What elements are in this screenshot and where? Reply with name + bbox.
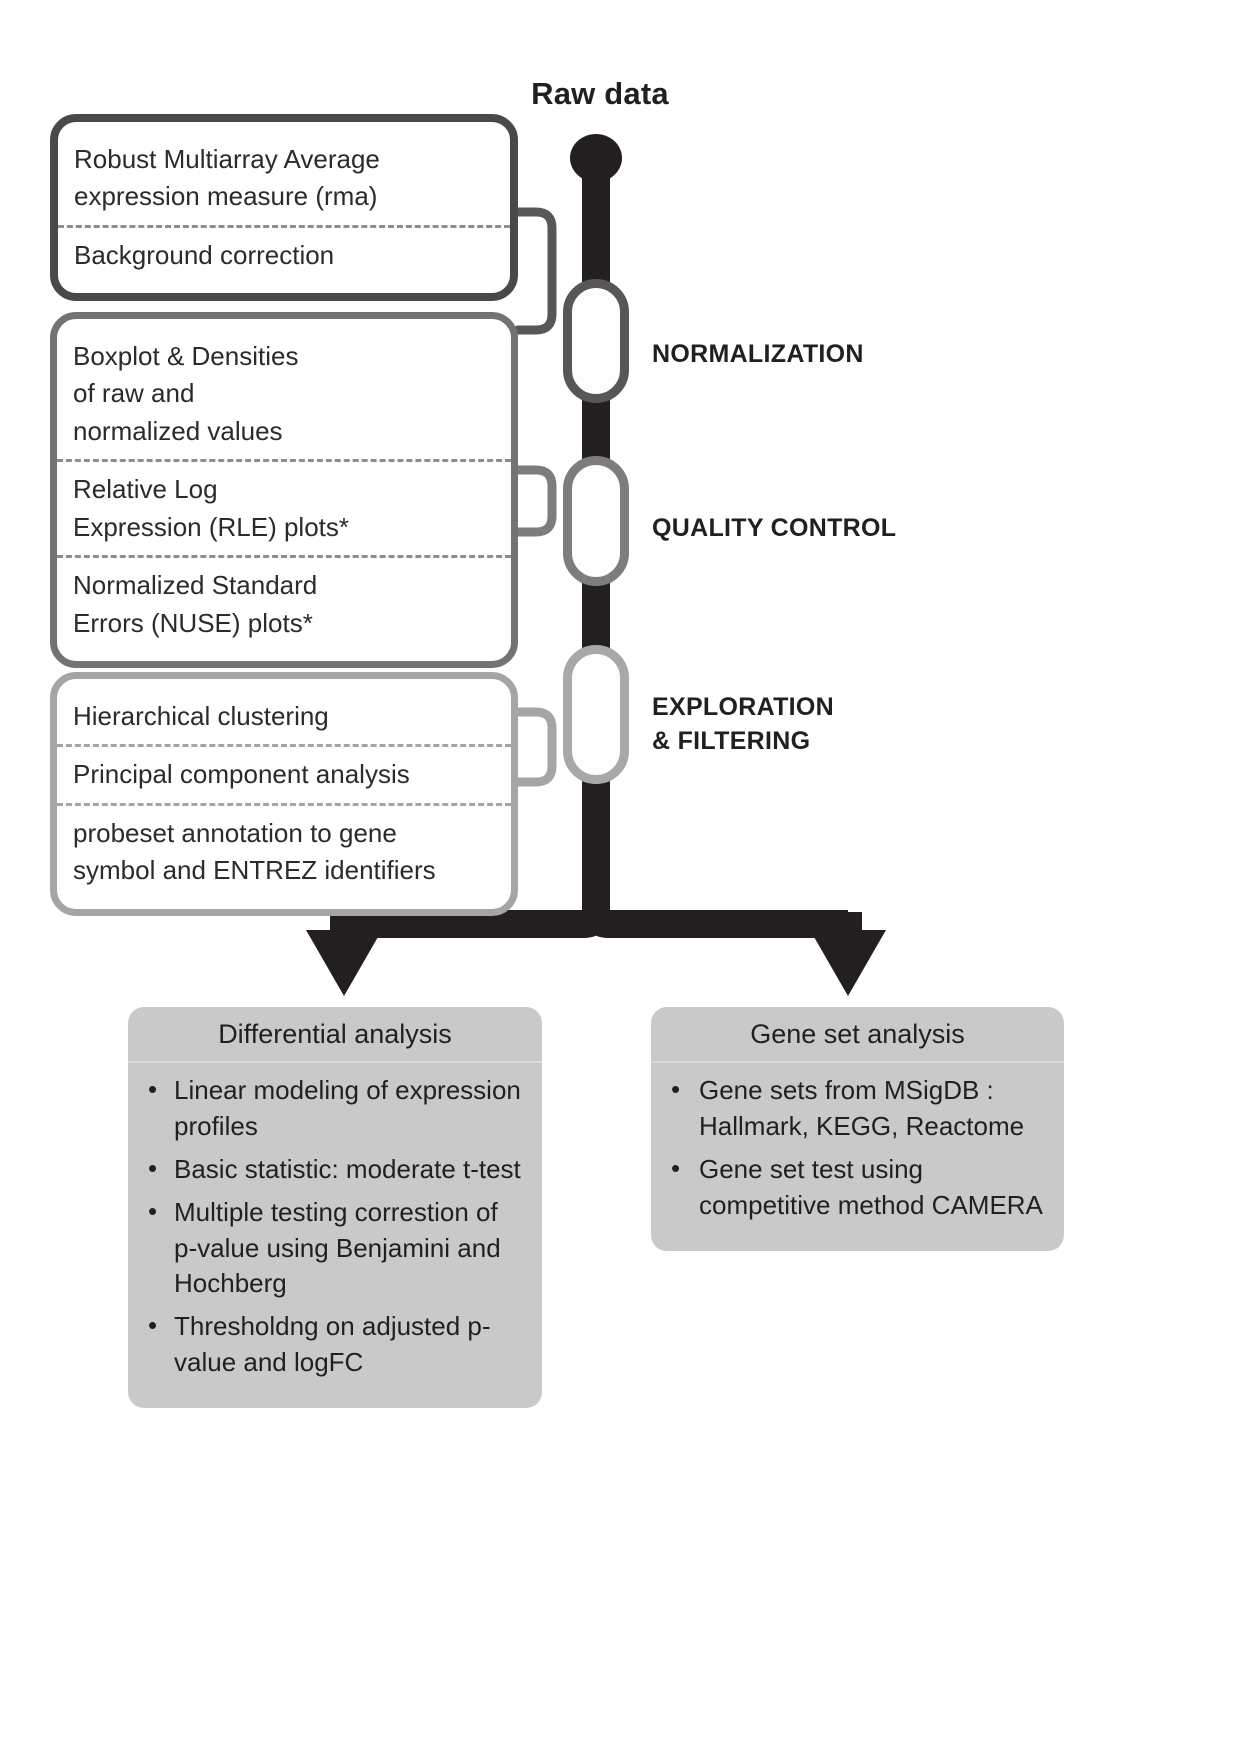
- stage-node-normalization[interactable]: [563, 279, 629, 403]
- stage-node-exploration[interactable]: [563, 645, 629, 784]
- detail-row: Hierarchical clustering: [57, 689, 511, 744]
- spine-segment-bottom: [582, 770, 610, 910]
- stage-label-quality-control: QUALITY CONTROL: [652, 512, 896, 546]
- result-bullet-list: Gene sets from MSigDB : Hallmark, KEGG, …: [651, 1063, 1064, 1251]
- detail-row: Boxplot & Densities of raw and normalize…: [57, 329, 511, 459]
- list-item: Gene set test using competitive method C…: [667, 1152, 1050, 1224]
- result-panel-title: Differential analysis: [128, 1007, 542, 1063]
- workflow-diagram: Raw data NORMALIZATION QUALITY CONTROL E…: [0, 0, 1240, 1753]
- arrowhead-right: [810, 930, 886, 996]
- stage-label-exploration: EXPLORATION & FILTERING: [652, 691, 834, 759]
- connector-exploration: [518, 712, 552, 782]
- detail-box-quality-control: Boxplot & Densities of raw and normalize…: [50, 312, 518, 668]
- branch-stem-left: [330, 912, 358, 952]
- detail-row: Background correction: [58, 225, 510, 283]
- detail-box-exploration: Hierarchical clustering Principal compon…: [50, 672, 518, 916]
- list-item: Thresholdng on adjusted p-value and logF…: [144, 1309, 528, 1381]
- stage-label-normalization: NORMALIZATION: [652, 338, 864, 372]
- detail-box-normalization: Robust Multiarray Average expression mea…: [50, 114, 518, 301]
- stage-node-quality-control[interactable]: [563, 456, 629, 586]
- detail-row: Relative Log Expression (RLE) plots*: [57, 459, 511, 555]
- spine-segment-top: [582, 150, 610, 290]
- arrowhead-left: [306, 930, 382, 996]
- result-panel-gene-set-analysis: Gene set analysis Gene sets from MSigDB …: [651, 1007, 1064, 1251]
- raw-data-node: [570, 134, 622, 182]
- detail-row: Normalized Standard Errors (NUSE) plots*: [57, 555, 511, 651]
- result-bullet-list: Linear modeling of expression profiles B…: [128, 1063, 542, 1408]
- list-item: Multiple testing correstion of p-value u…: [144, 1195, 528, 1303]
- list-item: Linear modeling of expression profiles: [144, 1073, 528, 1145]
- raw-data-title: Raw data: [450, 76, 750, 112]
- detail-row: probeset annotation to gene symbol and E…: [57, 803, 511, 899]
- detail-row: Principal component analysis: [57, 744, 511, 802]
- result-panel-title: Gene set analysis: [651, 1007, 1064, 1063]
- list-item: Basic statistic: moderate t-test: [144, 1152, 528, 1188]
- branch-stem-right: [834, 912, 862, 952]
- connector-quality-control: [518, 470, 552, 532]
- connector-normalization: [518, 212, 552, 330]
- detail-row: Robust Multiarray Average expression mea…: [58, 132, 510, 225]
- list-item: Gene sets from MSigDB : Hallmark, KEGG, …: [667, 1073, 1050, 1145]
- result-panel-differential-analysis: Differential analysis Linear modeling of…: [128, 1007, 542, 1408]
